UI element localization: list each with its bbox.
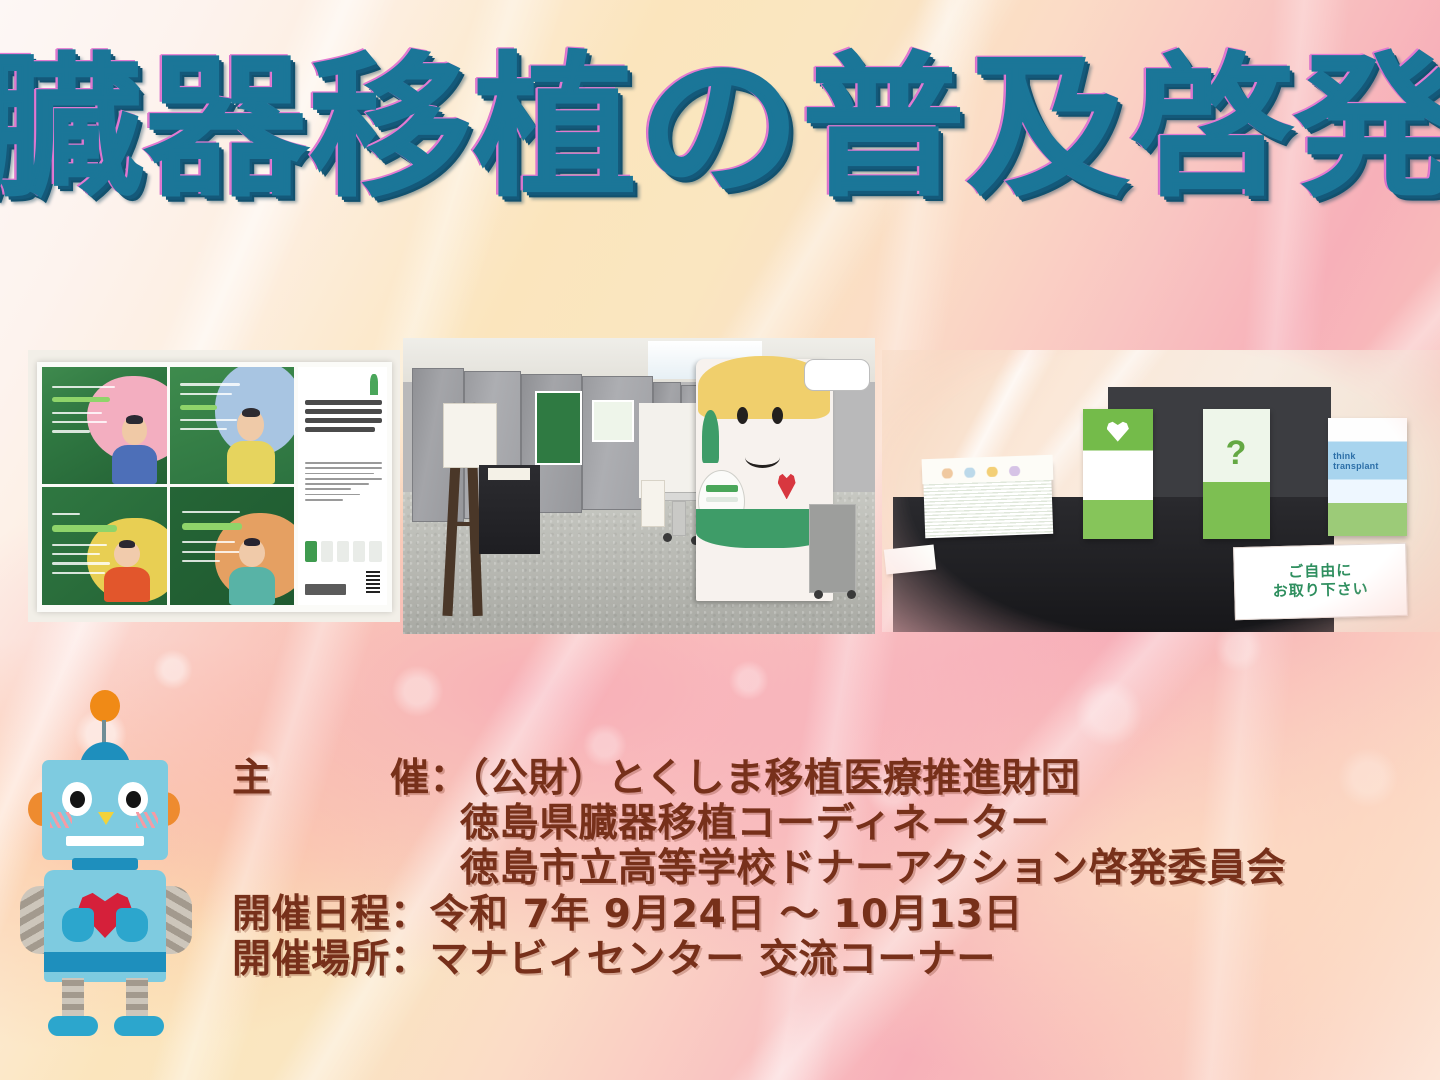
poster-panel: [42, 487, 167, 604]
organizer-line-2: 徳島県臓器移植コーディネーター: [460, 801, 1050, 846]
heart-icon: [1107, 421, 1129, 442]
date-value: 令和 7年 9月24日 ～ 10月13日: [430, 892, 1023, 937]
event-info-block: 主 催：（公財）とくしま移植医療推進財団 徳島県臓器移植コーディネーター 徳島市…: [232, 756, 1422, 982]
poster-sheet: [37, 362, 392, 612]
robot-neck: [72, 858, 138, 870]
date-row: 開催日程：令和 7年 9月24日 ～ 10月13日: [232, 892, 1422, 937]
poster-panel-grid: [42, 367, 294, 605]
date-label: 開催日程：: [232, 892, 430, 937]
brochure-stack-top: [922, 455, 1054, 485]
poster-panel: [170, 367, 295, 484]
qr-code-icon: [366, 571, 380, 592]
brochure-holder: think transplant: [1328, 418, 1406, 536]
place-row: 開催場所：マナビィセンター 交流コーナー: [232, 937, 1422, 982]
photo-awareness-poster: [28, 350, 400, 622]
question-mark-icon: ?: [1226, 438, 1246, 482]
poster-icon-row: [305, 541, 381, 562]
robot-mouth: [66, 836, 144, 846]
poster-panel: [170, 487, 295, 604]
place-value: マナビィセンター 交流コーナー: [430, 937, 996, 982]
sign-line-2: お取り下さい: [1272, 580, 1368, 601]
jot-logo: [305, 584, 346, 595]
speech-bubble: [804, 359, 870, 392]
poster-body-lines: [305, 462, 381, 504]
page-title: 臓器移植の普及啓発: [0, 48, 1440, 210]
robot-hand-right: [116, 908, 148, 942]
photo-exhibition-room: [403, 338, 875, 634]
organizer-row-2: 徳島県臓器移植コーディネーター: [232, 801, 1422, 846]
place-label: 開催場所：: [232, 937, 430, 982]
wall-poster: [535, 391, 582, 465]
robot-pupil-right: [126, 791, 141, 808]
robot-foot-right: [114, 1016, 164, 1036]
robot-blush-left: [50, 812, 72, 828]
brochure-title: think transplant: [1333, 451, 1402, 471]
poster-canvas: 臓器移植の普及啓発: [0, 0, 1440, 1080]
easel-board: [443, 403, 497, 468]
mascot-mouth: [745, 446, 781, 468]
sign-line-1: ご自由に: [1288, 562, 1352, 582]
brochure-holder: [1083, 409, 1153, 539]
organizer-label: 主 催：: [232, 756, 469, 801]
robot-blush-right: [136, 812, 158, 828]
wall-poster: [592, 400, 634, 441]
organizer-line-3: 徳島市立高等学校ドナーアクション啓発委員会: [460, 846, 1286, 891]
organizer-row: 主 催：（公財）とくしま移植医療推進財団: [232, 756, 1422, 801]
heart-icon: [778, 473, 796, 500]
brochure-holder: ?: [1203, 409, 1270, 539]
organizer-row-3: 徳島市立高等学校ドナーアクション啓発委員会: [232, 846, 1422, 891]
poster-headline-lines: [305, 400, 381, 436]
green-ribbon-icon: [370, 374, 378, 395]
antenna-ball-icon: [90, 690, 120, 722]
green-ribbon-icon: [702, 410, 718, 463]
poster-panel: [42, 367, 167, 484]
robot-nose: [98, 812, 114, 825]
title-area: 臓器移植の普及啓発: [0, 48, 1440, 210]
poster-sidebar: [298, 367, 387, 605]
free-to-take-sign: ご自由に お取り下さい: [1233, 542, 1408, 620]
photo-brochure-table: ? think transplant ご自由に お取り下さい: [882, 350, 1440, 632]
robot-foot-left: [48, 1016, 98, 1036]
robot-hand-left: [62, 908, 94, 942]
robot-belt: [44, 952, 166, 972]
robot-mascot-illustration: [22, 690, 192, 990]
robot-pupil-left: [70, 791, 85, 808]
organizer-line-1: （公財）とくしま移植医療推進財団: [469, 756, 1080, 801]
